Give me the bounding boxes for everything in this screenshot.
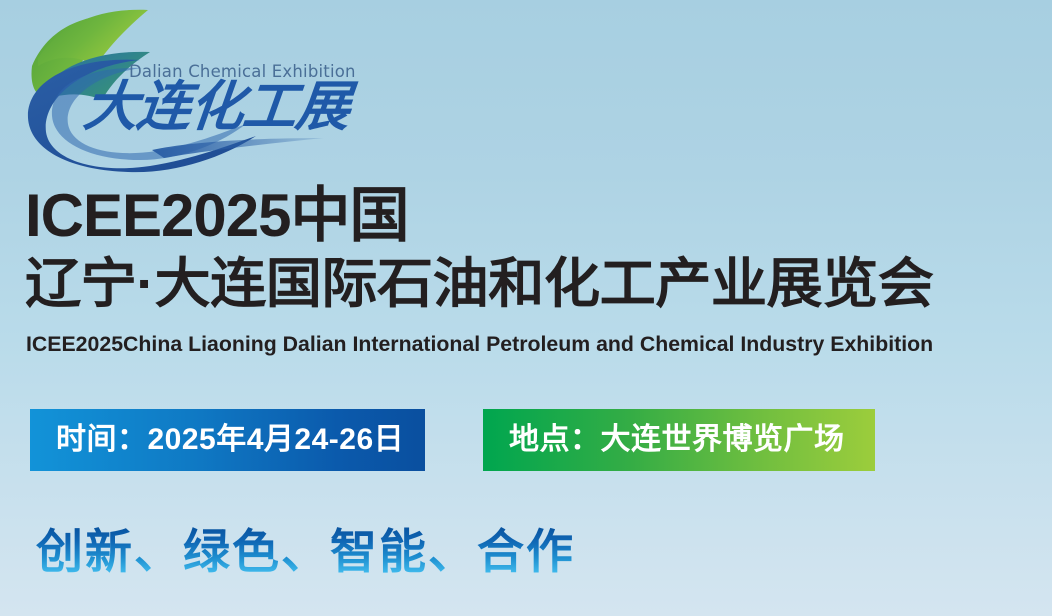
status-badge-place: 地点：大连世界博览广场 (483, 409, 875, 471)
status-badge-time: 时间：2025年4月24-26日 (30, 409, 425, 471)
slogan-text: 创新、绿色、智能、合作 (36, 526, 575, 579)
page-title-line2: 辽宁·大连国际石油和化工产业展览会 (25, 257, 933, 311)
badge-time-label: 时间：2025年4月24-26日 (56, 425, 404, 455)
exhibition-poster: Dalian Chemical Exhibition 大连化工展 ICEE202… (0, 0, 1052, 616)
logo-chinese-name: 大连化工展 (81, 80, 352, 134)
page-title-english: ICEE2025China Liaoning Dalian Internatio… (26, 333, 933, 357)
exhibition-logo: Dalian Chemical Exhibition 大连化工展 (24, 8, 344, 173)
badge-place-label: 地点：大连世界博览广场 (509, 425, 845, 455)
page-title-line1: ICEE2025中国 (25, 186, 409, 246)
